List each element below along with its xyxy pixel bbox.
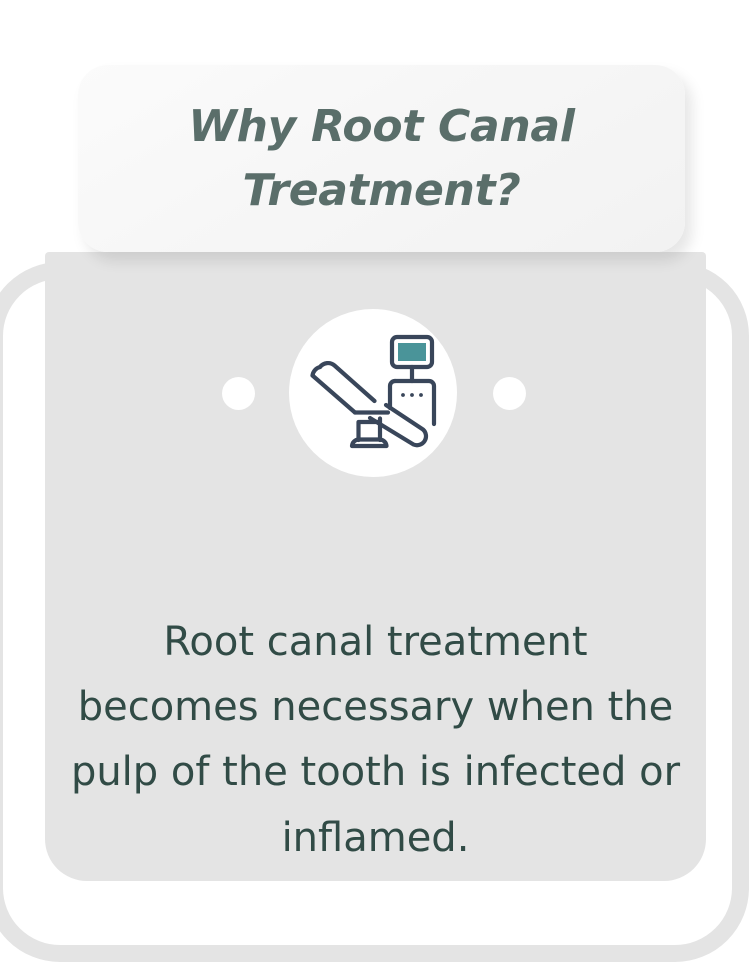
title-card: Why Root Canal Treatment?: [78, 65, 685, 252]
dental-chair-icon: [308, 333, 438, 453]
decorative-dot-right: [493, 377, 526, 410]
info-card: Root canal treatment becomes necessary w…: [45, 252, 706, 881]
decorative-dot-left: [222, 377, 255, 410]
icon-zone: [45, 252, 706, 552]
card-body-text: Root canal treatment becomes necessary w…: [45, 610, 706, 871]
icon-badge: [289, 309, 457, 477]
page-title: Why Root Canal Treatment?: [78, 95, 685, 223]
page-root: Root canal treatment becomes necessary w…: [0, 0, 749, 930]
